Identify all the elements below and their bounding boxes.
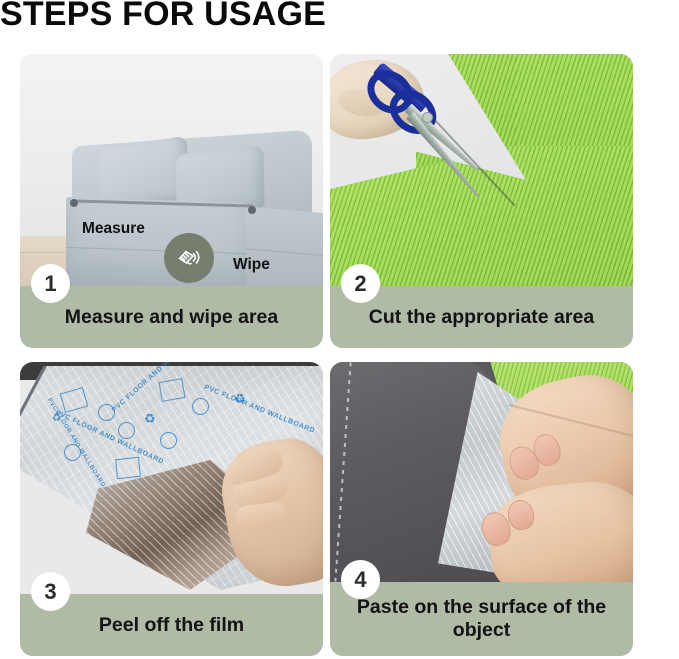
measure-endpoint-left-icon [70, 199, 78, 207]
step-card-1[interactable]: Measure Wipe [20, 54, 323, 348]
wipe-label: Wipe [233, 256, 270, 274]
step-4-caption-text: Paste on the surface of the object [330, 596, 633, 642]
cutting-cloth-scene [330, 54, 633, 286]
step-1-caption-text: Measure and wipe area [51, 306, 293, 329]
page-title: STEPS FOR USAGE [0, 0, 326, 34]
step-card-4[interactable]: 4 Paste on the surface of the object [330, 362, 633, 656]
wipe-cloth-icon [164, 233, 214, 283]
step-3-caption-text: Peel off the film [85, 614, 258, 637]
sofa-scene: Measure Wipe [20, 54, 323, 286]
step-number-badge: 1 [31, 264, 70, 303]
steps-for-usage-page: STEPS FOR USAGE Measure Wipe [0, 0, 679, 659]
step-number-badge: 3 [31, 572, 70, 611]
sofa-armrest [66, 197, 246, 286]
step-number-badge: 4 [341, 560, 380, 599]
step-1-image: Measure Wipe [20, 54, 323, 286]
scissors-pivot-icon [422, 112, 433, 123]
step-4-image [330, 362, 633, 582]
step-number-badge: 2 [341, 264, 380, 303]
paste-patch-scene [330, 362, 633, 582]
steps-grid: Measure Wipe [20, 54, 633, 656]
measure-label: Measure [82, 220, 145, 238]
step-card-3[interactable]: PVC FLOOR AND WALLBOARD PVC FLOOR AND WA… [20, 362, 323, 656]
step-4-caption: Paste on the surface of the object [330, 582, 633, 656]
measure-endpoint-right-icon [248, 206, 256, 214]
step-2-caption-text: Cut the appropriate area [355, 306, 608, 329]
step-2-image [330, 54, 633, 286]
step-3-image: PVC FLOOR AND WALLBOARD PVC FLOOR AND WA… [20, 362, 323, 594]
step-card-2[interactable]: 2 Cut the appropriate area [330, 54, 633, 348]
peel-film-scene: PVC FLOOR AND WALLBOARD PVC FLOOR AND WA… [20, 362, 323, 594]
